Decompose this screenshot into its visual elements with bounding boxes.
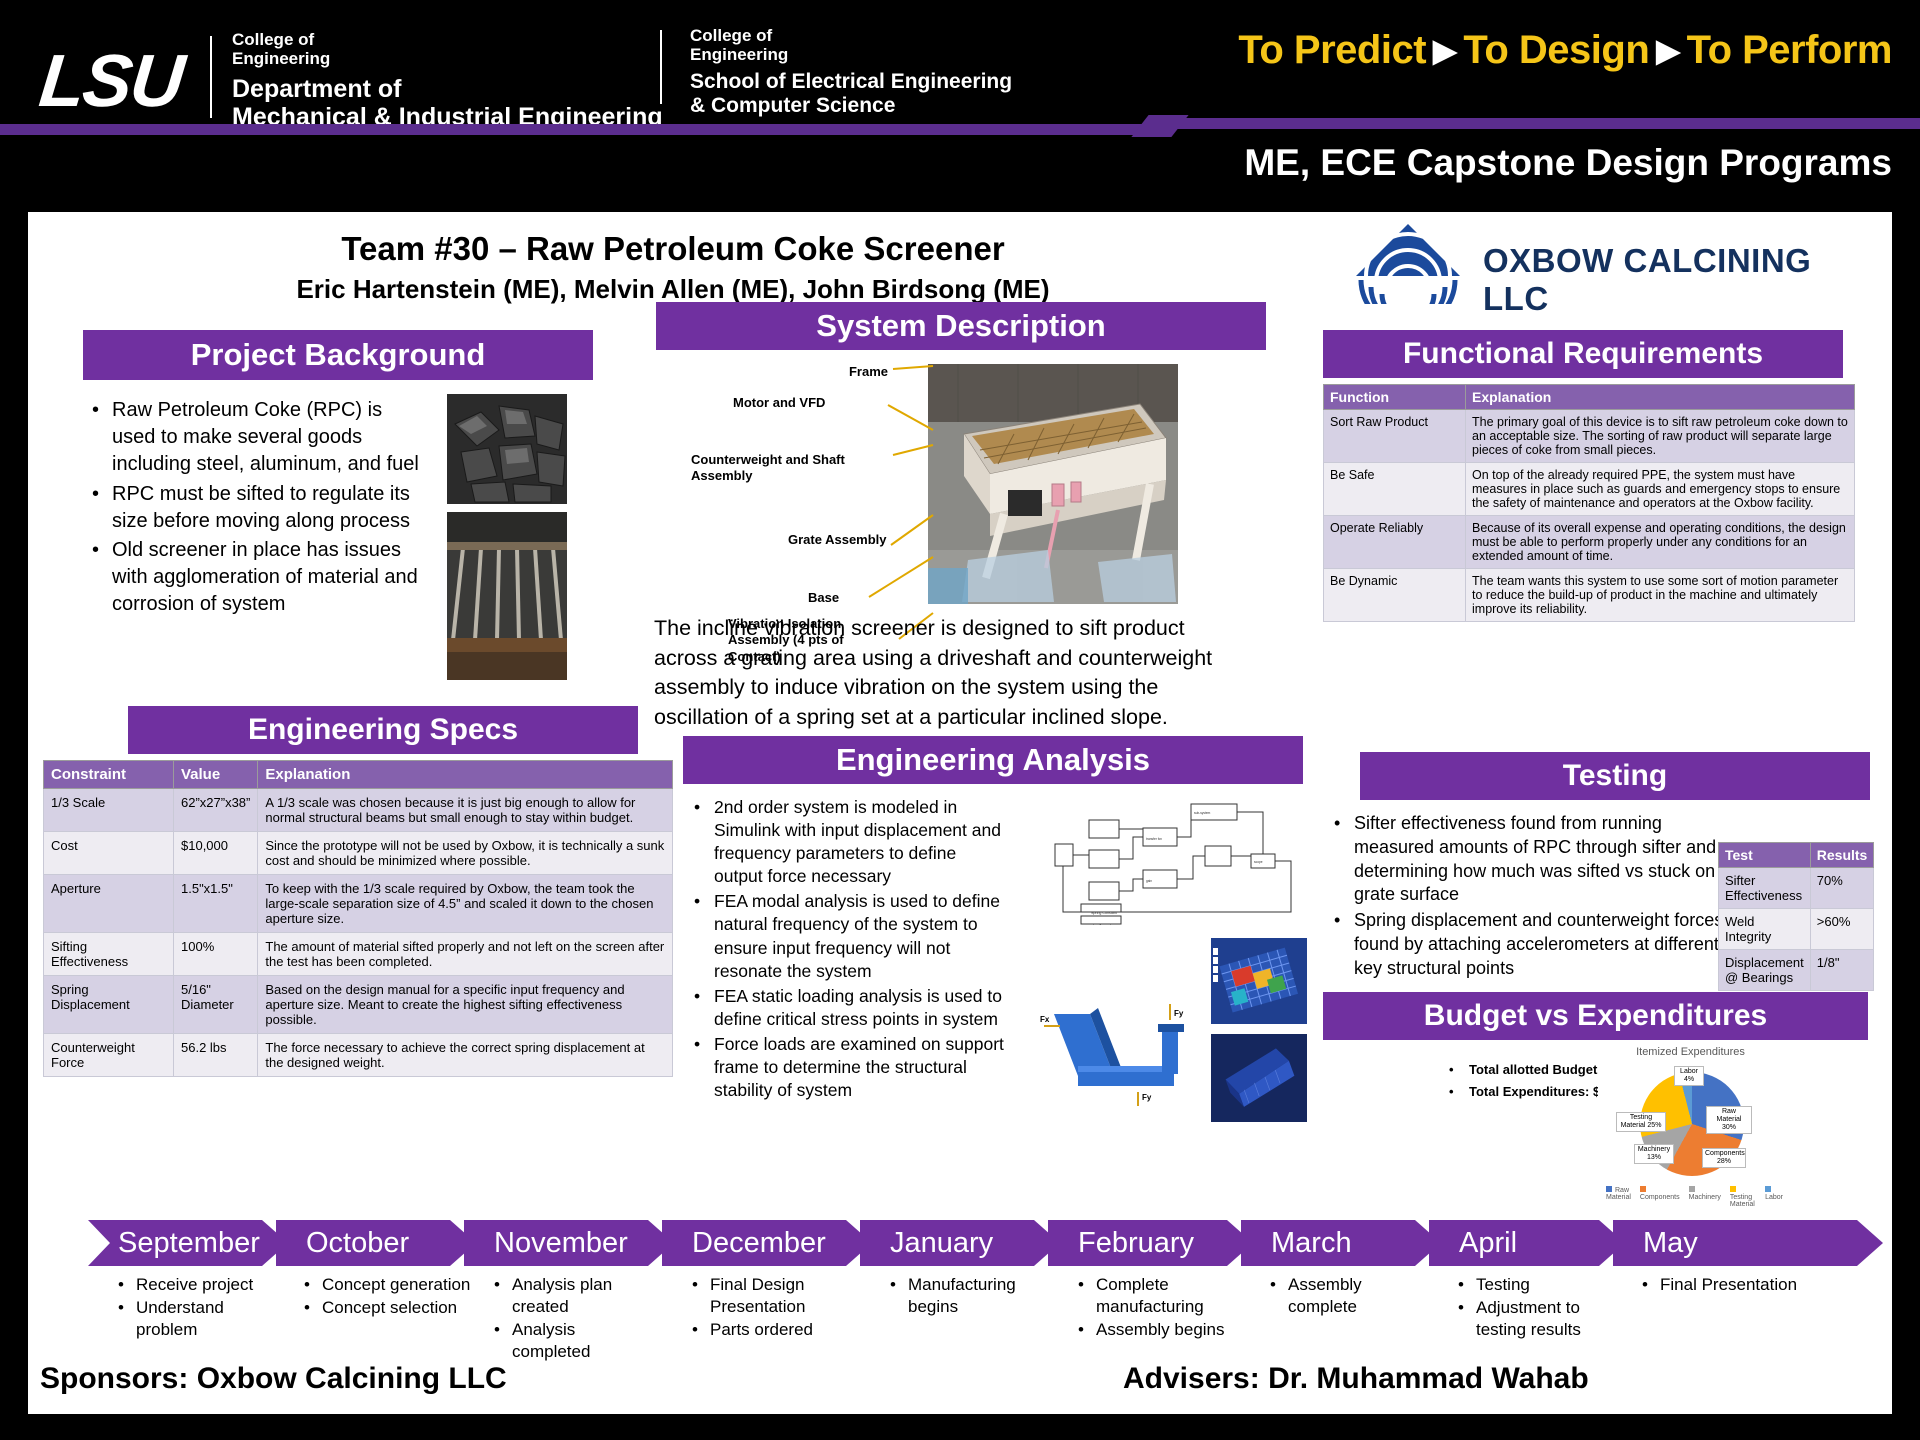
timeline-items-april: Testing Adjustment to testing results [1456, 1274, 1616, 1342]
cell-function: Sort Raw Product [1324, 410, 1466, 463]
legend-machinery: Machinery [1689, 1186, 1721, 1208]
timeline-month-label: November [494, 1227, 628, 1260]
header-divider-1 [210, 36, 212, 118]
screener-prototype-photo [928, 364, 1178, 604]
timeline-items-january: Manufacturing begins [888, 1274, 1053, 1319]
section-header-testing: Testing [1360, 752, 1870, 800]
dept2-line1: School of Electrical Engineering [690, 70, 1012, 94]
col-function: Function [1324, 385, 1466, 410]
legend-components: Components [1640, 1186, 1680, 1208]
cell-function: Be Dynamic [1324, 569, 1466, 622]
col-constraint: Constraint [44, 761, 174, 789]
table-row: Sifter Effectiveness 70% [1719, 868, 1874, 909]
lsu-logo: LSU [36, 38, 187, 123]
cell-value: 62”x27”x38” [174, 789, 258, 832]
svg-text:Fy: Fy [1142, 1093, 1152, 1102]
section-header-engineering-specs: Engineering Specs [128, 706, 638, 754]
table-row: 1/3 Scale 62”x27”x38” A 1/3 scale was ch… [44, 789, 673, 832]
section-header-system-description: System Description [656, 302, 1266, 350]
table-header-row: Function Explanation [1324, 385, 1855, 410]
cell-result: >60% [1810, 909, 1874, 950]
dept1-line1: Department of [232, 75, 663, 103]
capstone-program-title: ME, ECE Capstone Design Programs [1244, 142, 1892, 184]
cell-explanation: The primary goal of this device is to si… [1466, 410, 1855, 463]
coke-photo [447, 394, 567, 504]
list-item: Old screener in place has issues with ag… [86, 537, 426, 619]
tagline-predict: To Predict [1238, 28, 1426, 72]
svg-text:sub-system: sub-system [1194, 811, 1211, 815]
cell-value: 1.5"x1.5" [174, 875, 258, 933]
svg-text:scope: scope [1254, 860, 1263, 864]
dept2-college-label: College of [690, 26, 1012, 45]
cell-explanation: To keep with the 1/3 scale required by O… [258, 875, 673, 933]
timeline-items-december: Final Design Presentation Parts ordered [690, 1274, 850, 1342]
fea-beam-graphic [1211, 1034, 1307, 1122]
list-item: Concept generation [302, 1274, 472, 1296]
timeline-month-october: October [276, 1220, 476, 1266]
pie-label-raw-material: Raw Material 30% [1706, 1106, 1752, 1134]
list-item: 2nd order system is modeled in Simulink … [688, 796, 1008, 888]
legend-raw-material: Raw Material [1606, 1186, 1631, 1208]
timeline-month-march: March [1241, 1220, 1441, 1266]
table-header-row: Constraint Value Explanation [44, 761, 673, 789]
table-header-row: Test Results [1719, 843, 1874, 868]
testing-bullets: Sifter effectiveness found from running … [1328, 812, 1728, 982]
timeline-items-september: Receive project Understand problem [116, 1274, 276, 1342]
pie-label-components: Components 28% [1702, 1148, 1746, 1168]
simulink-block-diagram: Spring Constant Spring Damper transfer f… [1033, 790, 1303, 930]
cell-value: 100% [174, 933, 258, 976]
timeline-month-label: September [118, 1227, 260, 1260]
dept-mechanical-industrial: College of Engineering Department of Mec… [232, 30, 663, 131]
cell-test: Weld Integrity [1719, 909, 1811, 950]
list-item: Concept selection [302, 1297, 472, 1319]
cell-explanation: A 1/3 scale was chosen because it is jus… [258, 789, 673, 832]
header-divider-2 [660, 30, 662, 104]
cell-explanation: The amount of material sifted properly a… [258, 933, 673, 976]
table-row: Aperture 1.5"x1.5" To keep with the 1/3 … [44, 875, 673, 933]
table-row: Cost $10,000 Since the prototype will no… [44, 832, 673, 875]
list-item: Manufacturing begins [888, 1274, 1053, 1318]
simulink-graphic: Spring Constant Spring Damper transfer f… [1033, 790, 1303, 930]
timeline-items-february: Complete manufacturing Assembly begins [1076, 1274, 1241, 1342]
svg-text:Fy: Fy [1174, 1009, 1184, 1018]
tagline: To Predict▶To Design▶To Perform [1238, 28, 1892, 73]
list-item: FEA static loading analysis is used to d… [688, 985, 1008, 1031]
table-row: Be Dynamic The team wants this system to… [1324, 569, 1855, 622]
list-item: Testing [1456, 1274, 1616, 1296]
force-beam-graphic: Fx Fy Fy [1038, 974, 1208, 1114]
force-load-beam-diagram: Fx Fy Fy [1038, 974, 1208, 1114]
arrow-right-icon-2: ▶ [1649, 33, 1686, 68]
table-row: Counterweight Force 56.2 lbs The force n… [44, 1034, 673, 1077]
fea-mesh-graphic [1211, 938, 1307, 1024]
sponsors-footer: Sponsors: Oxbow Calcining LLC [40, 1362, 507, 1396]
list-item: Assembly complete [1268, 1274, 1418, 1318]
cell-constraint: Cost [44, 832, 174, 875]
header-rule-left [0, 124, 1160, 135]
cell-explanation: The team wants this system to use some s… [1466, 569, 1855, 622]
cell-explanation: Because of its overall expense and opera… [1466, 516, 1855, 569]
oxbow-logo: OXBOW CALCINING LLC [1338, 218, 1883, 308]
col-results: Results [1810, 843, 1874, 868]
cell-function: Be Safe [1324, 463, 1466, 516]
functional-requirements-table: Function Explanation Sort Raw Product Th… [1323, 384, 1855, 622]
timeline-items-may: Final Presentation [1640, 1274, 1820, 1297]
legend-labor: Labor [1765, 1186, 1783, 1208]
advisers-label: Advisers: [1123, 1362, 1260, 1395]
timeline-month-february: February [1048, 1220, 1253, 1266]
budget-heading: Budget vs Expenditures [1424, 999, 1767, 1033]
pie-label-machinery: Machinery 13% [1634, 1144, 1674, 1164]
tagline-perform: To Perform [1687, 28, 1892, 72]
timeline-month-september: September [88, 1220, 288, 1266]
poster-body: Team #30 – Raw Petroleum Coke Screener E… [28, 212, 1892, 1414]
list-item: Sifter effectiveness found from running … [1328, 812, 1728, 907]
oxbow-mark-icon [1348, 220, 1468, 304]
sponsors-value: Oxbow Calcining LLC [197, 1362, 507, 1395]
pie-label-testing-material: Testing Material 25% [1616, 1112, 1666, 1132]
callout-leader-lines [683, 357, 943, 657]
timeline-month-december: December [662, 1220, 872, 1266]
table-row: Be Safe On top of the already required P… [1324, 463, 1855, 516]
cell-constraint: 1/3 Scale [44, 789, 174, 832]
timeline-month-label: March [1271, 1227, 1352, 1260]
col-explanation: Explanation [258, 761, 673, 789]
table-row: Spring Displacement 5/16" Diameter Based… [44, 976, 673, 1034]
advisers-footer: Advisers: Dr. Muhammad Wahab [1123, 1362, 1589, 1396]
list-item: Complete manufacturing [1076, 1274, 1241, 1318]
cell-test: Sifter Effectiveness [1719, 868, 1811, 909]
fea-beam-stress-result [1211, 1034, 1307, 1122]
cell-value: 5/16" Diameter [174, 976, 258, 1034]
dept-electrical-computer: College of Engineering School of Electri… [690, 26, 1012, 117]
list-item: FEA modal analysis is used to define nat… [688, 890, 1008, 982]
poster-root: LSU College of Engineering Department of… [0, 0, 1920, 1440]
cell-value: 56.2 lbs [174, 1034, 258, 1077]
author-list: Eric Hartenstein (ME), Melvin Allen (ME)… [28, 274, 1318, 305]
timeline-month-november: November [464, 1220, 674, 1266]
chart-legend: Raw Material Components Machinery Testin… [1606, 1186, 1783, 1208]
testing-results-table: Test Results Sifter Effectiveness 70% We… [1718, 842, 1874, 991]
cell-explanation: The force necessary to achieve the corre… [258, 1034, 673, 1077]
advisers-value: Dr. Muhammad Wahab [1268, 1362, 1589, 1395]
cell-constraint: Counterweight Force [44, 1034, 174, 1077]
chart-title: Itemized Expenditures [1598, 1046, 1783, 1058]
section-header-functional-requirements: Functional Requirements [1323, 330, 1843, 378]
list-item: Understand problem [116, 1297, 276, 1341]
timeline-month-may: May [1613, 1220, 1883, 1266]
sponsors-label: Sponsors: [40, 1362, 188, 1395]
section-header-budget: Budget vs Expenditures [1323, 992, 1868, 1040]
dept2-line2: & Computer Science [690, 94, 1012, 118]
cell-value: $10,000 [174, 832, 258, 875]
arrow-right-icon-1: ▶ [1426, 33, 1463, 68]
header-rule-right [1175, 118, 1920, 129]
col-explanation: Explanation [1466, 385, 1855, 410]
list-item: Raw Petroleum Coke (RPC) is used to make… [86, 397, 426, 479]
engineering-analysis-heading: Engineering Analysis [836, 742, 1150, 778]
fea-modal-mesh-result [1211, 938, 1307, 1024]
cell-constraint: Spring Displacement [44, 976, 174, 1034]
table-row: Operate Reliably Because of its overall … [1324, 516, 1855, 569]
list-item: Receive project [116, 1274, 276, 1296]
table-row: Sifting Effectiveness 100% The amount of… [44, 933, 673, 976]
list-item: Adjustment to testing results [1456, 1297, 1616, 1341]
list-item: Assembly begins [1076, 1319, 1241, 1341]
page-header: LSU College of Engineering Department of… [0, 0, 1920, 210]
svg-text:transfer fcn: transfer fcn [1146, 837, 1162, 841]
cell-test: Displacement @ Bearings [1719, 950, 1811, 991]
svg-text:Fx: Fx [1040, 1015, 1050, 1024]
cell-constraint: Sifting Effectiveness [44, 933, 174, 976]
timeline-month-label: October [306, 1227, 409, 1260]
timeline-month-label: December [692, 1227, 826, 1260]
list-item: Final Design Presentation [690, 1274, 850, 1318]
itemized-expenditures-chart: Itemized Expenditures Labor 4% Raw Mater… [1598, 1044, 1783, 1204]
list-item: Analysis plan created [492, 1274, 652, 1318]
table-row: Sort Raw Product The primary goal of thi… [1324, 410, 1855, 463]
table-row: Displacement @ Bearings 1/8" [1719, 950, 1874, 991]
old-screener-graphic [447, 512, 567, 680]
list-item: Spring displacement and counterweight fo… [1328, 909, 1728, 980]
timeline-items-october: Concept generation Concept selection [302, 1274, 472, 1320]
legend-testing-material: Testing Material [1730, 1186, 1756, 1208]
list-item: Final Presentation [1640, 1274, 1820, 1296]
timeline-month-label: May [1643, 1227, 1698, 1260]
cell-result: 1/8" [1810, 950, 1874, 991]
project-background-heading: Project Background [191, 337, 486, 373]
tagline-design: To Design [1463, 28, 1649, 72]
section-header-engineering-analysis: Engineering Analysis [683, 736, 1303, 784]
timeline-month-label: April [1459, 1227, 1517, 1260]
cell-result: 70% [1810, 868, 1874, 909]
engineering-specs-table: Constraint Value Explanation 1/3 Scale 6… [43, 760, 673, 1077]
dept1-engineering-label: Engineering [232, 49, 663, 68]
page-title: Team #30 – Raw Petroleum Coke Screener [28, 230, 1318, 268]
cell-explanation: On top of the already required PPE, the … [1466, 463, 1855, 516]
project-background-bullets: Raw Petroleum Coke (RPC) is used to make… [86, 397, 426, 621]
list-item: Parts ordered [690, 1319, 850, 1341]
old-screener-photo [447, 512, 567, 680]
list-item: Force loads are examined on support fram… [688, 1033, 1008, 1102]
engineering-specs-heading: Engineering Specs [248, 713, 518, 747]
cell-explanation: Since the prototype will not be used by … [258, 832, 673, 875]
timeline-month-label: January [890, 1227, 993, 1260]
oxbow-wordmark: OXBOW CALCINING LLC [1483, 242, 1883, 318]
dept1-college-label: College of [232, 30, 663, 49]
system-description-paragraph: The incline vibration screener is design… [654, 614, 1234, 733]
table-row: Weld Integrity >60% [1719, 909, 1874, 950]
engineering-analysis-bullets: 2nd order system is modeled in Simulink … [688, 796, 1008, 1104]
functional-requirements-heading: Functional Requirements [1403, 337, 1763, 371]
svg-text:gain: gain [1146, 879, 1152, 883]
timeline-month-label: February [1078, 1227, 1194, 1260]
system-description-heading: System Description [816, 308, 1105, 344]
list-item: RPC must be sifted to regulate its size … [86, 481, 426, 535]
timeline-month-january: January [860, 1220, 1060, 1266]
section-header-project-background: Project Background [83, 330, 593, 380]
timeline-items-march: Assembly complete [1268, 1274, 1418, 1319]
cell-constraint: Aperture [44, 875, 174, 933]
pie-label-labor: Labor 4% [1674, 1066, 1704, 1086]
list-item: Analysis completed [492, 1319, 652, 1363]
cell-function: Operate Reliably [1324, 516, 1466, 569]
col-value: Value [174, 761, 258, 789]
cell-explanation: Based on the design manual for a specifi… [258, 976, 673, 1034]
timeline-month-april: April [1429, 1220, 1625, 1266]
dept2-engineering-label: Engineering [690, 45, 1012, 64]
timeline-items-november: Analysis plan created Analysis completed [492, 1274, 652, 1364]
screener-prototype-graphic [928, 364, 1178, 604]
col-test: Test [1719, 843, 1811, 868]
testing-heading: Testing [1563, 759, 1667, 793]
coke-photo-graphic [447, 394, 567, 504]
